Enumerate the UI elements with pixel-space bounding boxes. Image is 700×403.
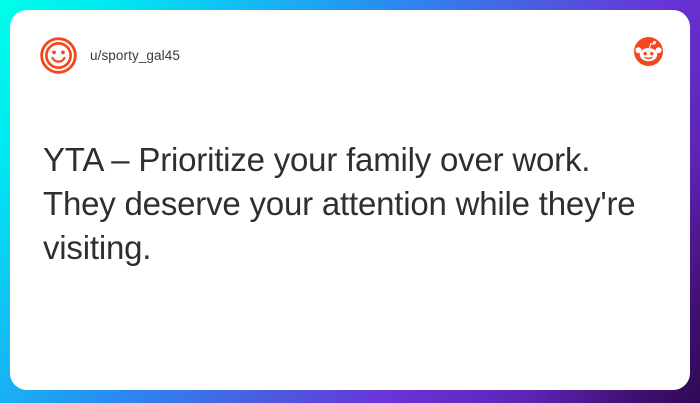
post-header: u/sporty_gal45 (40, 32, 660, 78)
post-body: YTA – Prioritize your family over work. … (40, 138, 660, 271)
username-label: u/sporty_gal45 (90, 48, 180, 63)
smiley-face-avatar-icon (40, 37, 77, 74)
reddit-post-card: u/sporty_gal45 YTA – Prioritize your fam… (10, 10, 690, 390)
post-text: YTA – Prioritize your family over work. … (43, 138, 643, 271)
reddit-snoo-logo-icon[interactable] (634, 37, 663, 66)
screenshot-stage: u/sporty_gal45 YTA – Prioritize your fam… (0, 0, 700, 403)
avatar[interactable] (40, 37, 77, 74)
